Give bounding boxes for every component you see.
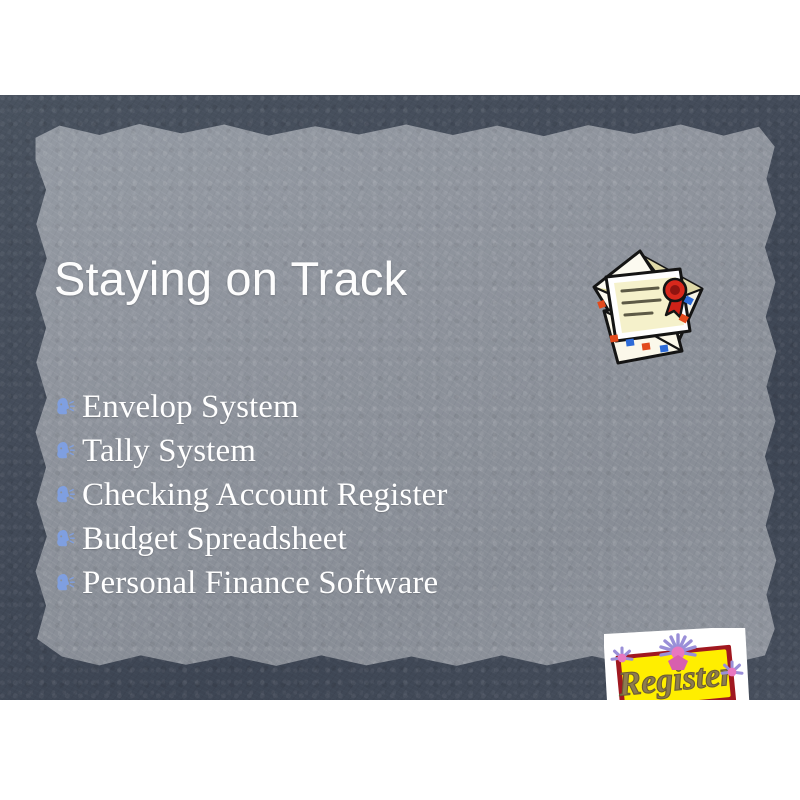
list-item-label: Personal Finance Software	[82, 567, 438, 600]
list-item: Budget Spreadsheet	[50, 517, 610, 561]
talking-head-bullet-icon	[50, 528, 76, 550]
register-sign-clipart: Register	[604, 628, 750, 700]
list-item-label: Envelop System	[82, 391, 299, 424]
list-item-label: Tally System	[82, 435, 256, 468]
list-item: Personal Finance Software	[50, 561, 610, 605]
talking-head-bullet-icon	[50, 396, 76, 418]
envelopes-clipart	[580, 227, 712, 369]
list-item: Tally System	[50, 429, 610, 473]
list-item: Checking Account Register	[50, 473, 610, 517]
list-item: Envelop System	[50, 385, 610, 429]
slide-title: Staying on Track	[54, 253, 407, 306]
bullet-list: Envelop System Tally System Checking	[50, 385, 610, 605]
talking-head-bullet-icon	[50, 440, 76, 462]
list-item-label: Budget Spreadsheet	[82, 523, 347, 556]
slide-canvas: Staying on Track Envelop System Ta	[0, 95, 800, 700]
talking-head-bullet-icon	[50, 572, 76, 594]
talking-head-bullet-icon	[50, 484, 76, 506]
list-item-label: Checking Account Register	[82, 479, 447, 512]
